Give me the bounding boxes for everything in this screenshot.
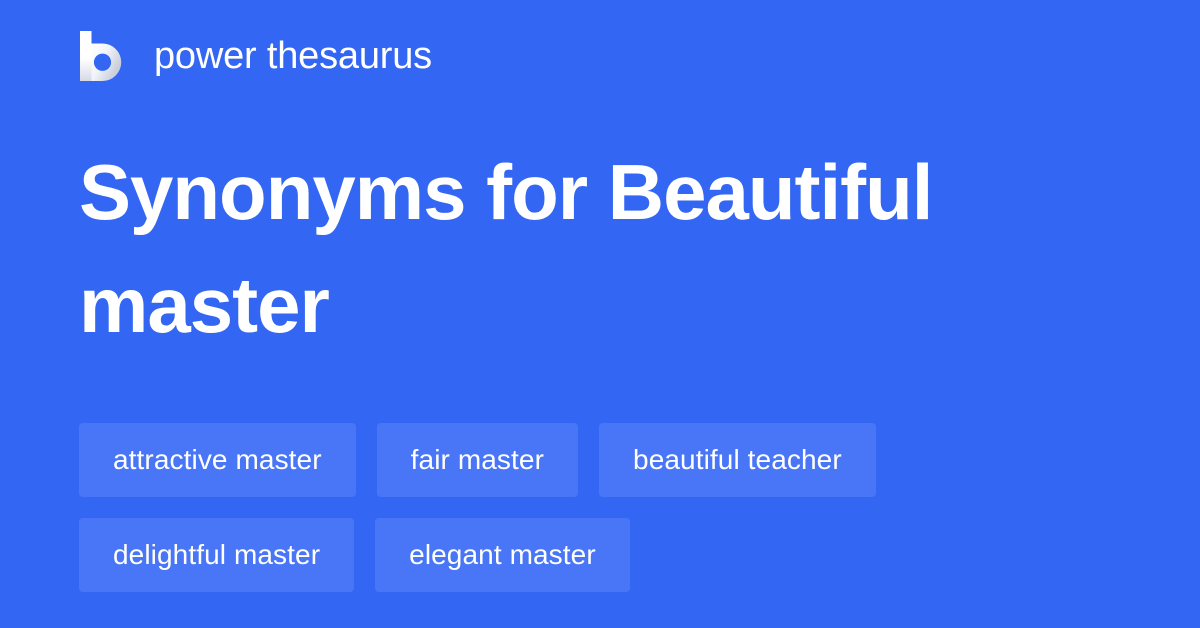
brand-name: power thesaurus: [154, 34, 432, 78]
power-thesaurus-logo-icon: [79, 30, 129, 82]
share-card: power thesaurus Synonyms for Beautiful m…: [0, 0, 1200, 628]
synonym-chip[interactable]: delightful master: [79, 518, 354, 592]
synonym-chip[interactable]: fair master: [377, 423, 578, 497]
synonym-chip-list: attractive master fair master beautiful …: [79, 423, 1129, 592]
synonym-chip[interactable]: elegant master: [375, 518, 630, 592]
page-title: Synonyms for Beautiful master: [79, 136, 1079, 362]
brand-lockup[interactable]: power thesaurus: [79, 28, 432, 84]
synonym-chip[interactable]: beautiful teacher: [599, 423, 876, 497]
synonym-chip[interactable]: attractive master: [79, 423, 356, 497]
